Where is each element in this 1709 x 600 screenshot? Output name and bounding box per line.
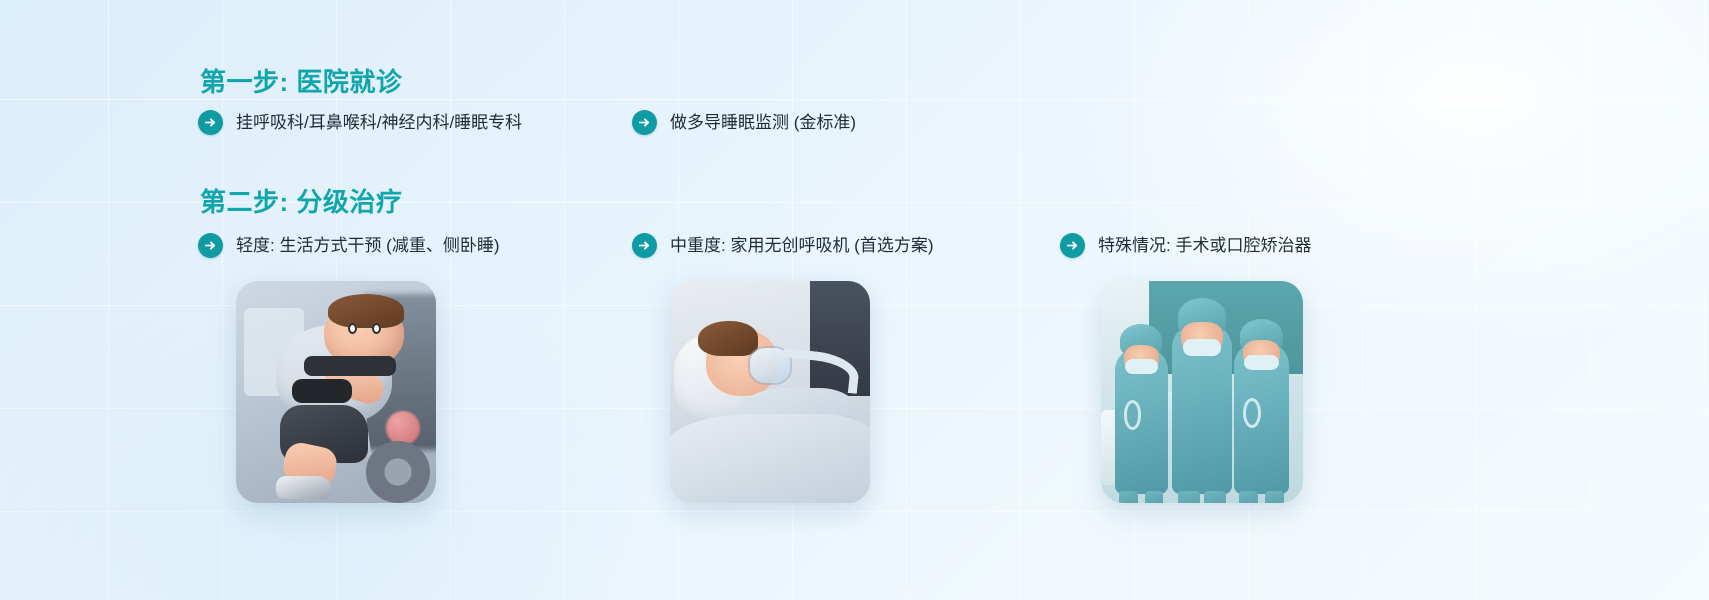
slide-canvas: 第一步: 医院就诊 挂呼吸科/耳鼻喉科/神经内科/睡眠专科 做多导睡眠监测 (金…	[0, 0, 1709, 600]
surgical-team-in-operating-room-illustration	[1101, 281, 1303, 503]
bullet-label: 轻度: 生活方式干预 (减重、侧卧睡)	[236, 237, 500, 254]
bullet-item-step1-2[interactable]: 做多导睡眠监测 (金标准)	[632, 110, 856, 135]
bullet-item-step2-1[interactable]: 轻度: 生活方式干预 (减重、侧卧睡)	[198, 233, 500, 258]
bullet-label: 特殊情况: 手术或口腔矫治器	[1098, 237, 1311, 254]
bullet-item-step2-3[interactable]: 特殊情况: 手术或口腔矫治器	[1060, 233, 1311, 258]
patient-sleeping-with-cpap-mask-illustration	[670, 281, 870, 503]
slide-content: 第一步: 医院就诊 挂呼吸科/耳鼻喉科/神经内科/睡眠专科 做多导睡眠监测 (金…	[0, 0, 1709, 600]
arrow-right-circle-icon	[198, 233, 223, 258]
man-riding-exercise-bike-illustration	[236, 281, 436, 503]
bullet-item-step2-2[interactable]: 中重度: 家用无创呼吸机 (首选方案)	[632, 233, 934, 258]
arrow-right-circle-icon	[632, 110, 657, 135]
bullet-item-step1-1[interactable]: 挂呼吸科/耳鼻喉科/神经内科/睡眠专科	[198, 110, 522, 135]
section-title-step-2: 第二步: 分级治疗	[200, 182, 402, 219]
arrow-right-circle-icon	[198, 110, 223, 135]
bullet-label: 挂呼吸科/耳鼻喉科/神经内科/睡眠专科	[236, 114, 522, 131]
section-title-step-1: 第一步: 医院就诊	[200, 62, 402, 99]
bullet-label: 中重度: 家用无创呼吸机 (首选方案)	[670, 237, 934, 254]
bullet-label: 做多导睡眠监测 (金标准)	[670, 114, 856, 131]
arrow-right-circle-icon	[632, 233, 657, 258]
arrow-right-circle-icon	[1060, 233, 1085, 258]
